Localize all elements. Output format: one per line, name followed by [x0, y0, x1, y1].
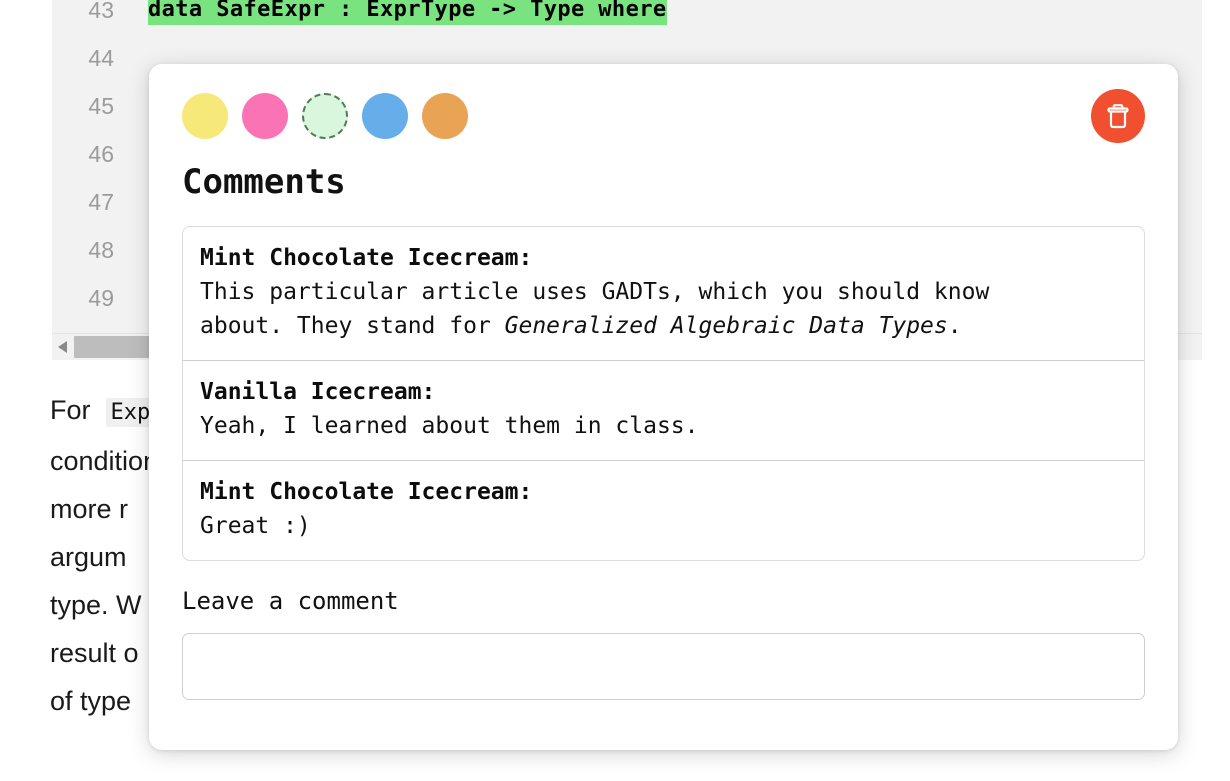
code-line-number: 44 [52, 34, 114, 82]
comment-item: Mint Chocolate Icecream: Great :) [183, 461, 1144, 560]
code-line-number: 43 [52, 0, 114, 34]
code-line-number: 48 [52, 226, 114, 274]
comment-item: Vanilla Icecream: Yeah, I learned about … [183, 361, 1144, 461]
comment-body: This particular article uses GADTs, whic… [200, 275, 1127, 343]
color-swatch-mint-green[interactable] [302, 93, 348, 139]
comment-body-text: Yeah, I learned about them in class. [200, 413, 699, 439]
comment-author: Mint Chocolate Icecream: [200, 476, 1127, 509]
comment-modal: Comments Mint Chocolate Icecream: This p… [149, 64, 1178, 750]
comment-author: Vanilla Icecream: [200, 376, 1127, 409]
color-swatch-pink[interactable] [242, 93, 288, 139]
comment-body: Yeah, I learned about them in class. [200, 409, 1127, 443]
color-swatch-orange[interactable] [422, 93, 468, 139]
code-line-number: 49 [52, 274, 114, 322]
delete-button[interactable] [1091, 89, 1145, 143]
comment-body-text: Great :) [200, 513, 311, 539]
color-swatch-yellow[interactable] [182, 93, 228, 139]
code-line-number: 46 [52, 130, 114, 178]
color-swatch-blue[interactable] [362, 93, 408, 139]
page-title: Comments [149, 160, 1178, 204]
comments-list: Mint Chocolate Icecream: This particular… [182, 226, 1145, 561]
code-line-number: 45 [52, 82, 114, 130]
trash-icon [1105, 102, 1131, 130]
comment-input[interactable] [182, 633, 1145, 700]
comment-item: Mint Chocolate Icecream: This particular… [183, 227, 1144, 361]
comment-author: Mint Chocolate Icecream: [200, 242, 1127, 275]
modal-header [149, 64, 1178, 160]
comment-body-tail: . [948, 313, 962, 339]
code-line-highlight: data SafeExpr : ExprType -> Type where [148, 0, 667, 25]
code-line-highlighted: data SafeExpr : ExprType -> Type where [148, 0, 1202, 34]
triangle-left-icon[interactable] [52, 334, 74, 360]
comment-body: Great :) [200, 509, 1127, 543]
code-line-number: 47 [52, 178, 114, 226]
comment-body-emphasis: Generalized Algebraic Data Types [505, 313, 948, 339]
color-swatch-row [182, 93, 468, 139]
leave-a-comment-label: Leave a comment [182, 585, 1145, 617]
code-line-number-gutter: 43 44 45 46 47 48 49 [52, 0, 128, 333]
